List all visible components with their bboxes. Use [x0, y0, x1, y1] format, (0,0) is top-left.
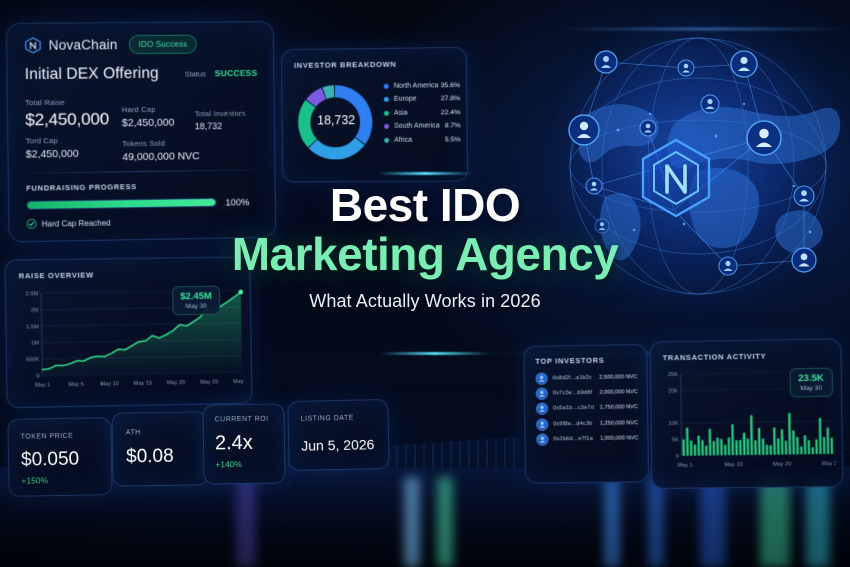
legend-dot-icon: [384, 124, 389, 129]
svg-text:May 25: May 25: [200, 379, 218, 385]
svg-text:May 20: May 20: [773, 461, 791, 467]
transaction-tooltip: 23.5K May 30: [789, 368, 833, 398]
investor-legend-row: North America35.6%: [384, 82, 460, 90]
investor-amount: 2,000,000 NVC: [599, 389, 637, 396]
svg-text:20K: 20K: [668, 388, 678, 394]
investor-address: 0x7c3e...b9d8f: [553, 390, 599, 397]
legend-value: 35.6%: [441, 82, 460, 89]
investor-legend-row: Asia22.4%: [384, 109, 460, 117]
svg-text:May 15: May 15: [134, 381, 152, 387]
status-label: Status: [185, 69, 206, 78]
donut-center-value: 18,732: [317, 113, 355, 127]
legend-dot-icon: [384, 111, 389, 116]
stat-value: $0.08: [126, 446, 174, 469]
metric-value: $2,450,000: [122, 117, 175, 130]
globe-graphic: [548, 18, 848, 318]
progress-section-label: FUNDRAISING PROGRESS: [26, 182, 137, 193]
floor-reflection: [806, 477, 830, 567]
svg-text:May 1: May 1: [677, 463, 692, 469]
transaction-activity-card: TRANSACTION ACTIVITY 05K10K20K25KMay 1Ma…: [650, 338, 844, 489]
metric-value: $2,450,000: [26, 148, 79, 161]
hero-accent-underline: [377, 172, 473, 175]
stat-label: LISTING DATE: [301, 415, 354, 423]
legend-dot-icon: [384, 97, 389, 102]
svg-text:0: 0: [676, 454, 679, 460]
raise-tooltip-value: $2.45M: [180, 291, 212, 302]
legend-value: 5.5%: [445, 136, 461, 143]
investor-amount: 1,250,000 NVC: [600, 420, 638, 427]
metric-label: Tokens Sold: [122, 138, 200, 148]
user-icon: [536, 433, 548, 445]
top-investor-row[interactable]: 0x9f8e...d4c3b1,250,000 NVC: [536, 417, 638, 430]
metric-total-investors: Total Investors 18,732: [195, 109, 246, 132]
metric-value: $2,450,000: [25, 109, 109, 130]
investor-legend-row: Europe27.8%: [384, 96, 460, 104]
investor-breakdown-title: INVESTOR BREAKDOWN: [294, 60, 396, 70]
legend-label: Africa: [394, 136, 445, 143]
ido-success-badge: IDO Success: [128, 35, 197, 55]
top-investor-row[interactable]: 0x7c3e...b9d8f2,000,000 NVC: [536, 386, 638, 400]
metric-label: Tord Cap: [25, 136, 78, 146]
status-badge: SUCCESS: [215, 68, 258, 78]
svg-text:10K: 10K: [668, 421, 678, 427]
floor-reflection: [404, 477, 420, 567]
floor-reflection: [437, 477, 453, 567]
stat-delta: +140%: [215, 459, 242, 469]
stat-label: CURRENT ROI: [215, 416, 269, 424]
hard-cap-reached-label: Hard Cap Reached: [42, 218, 111, 228]
metric-tord-cap: Tord Cap $2,450,000: [25, 136, 78, 161]
stat-card-current-roi: CURRENT ROI 2.4x +140%: [202, 403, 285, 484]
raise-overview-card: RAISE OVERVIEW 0500K1M1.5M2M2.5MMay 1May…: [4, 256, 252, 408]
svg-text:May 10: May 10: [724, 462, 742, 468]
stat-value: 2.4x: [215, 432, 253, 456]
metric-tokens-sold: Tokens Sold 49,000,000 NVC: [122, 138, 200, 163]
fundraising-progress-bar: [26, 198, 216, 210]
svg-text:May 5: May 5: [68, 382, 83, 388]
transaction-tooltip-date: May 30: [798, 385, 824, 392]
divider: [25, 169, 259, 173]
metric-label: Hard Cap: [122, 105, 175, 115]
user-icon: [536, 418, 548, 430]
progress-percent: 100%: [225, 197, 249, 208]
hard-cap-reached-row: Hard Cap Reached: [27, 218, 111, 229]
svg-text:May 20: May 20: [167, 380, 185, 386]
top-investor-row[interactable]: 0x5a1b...c3e7d1,750,000 NVC: [536, 402, 638, 415]
svg-text:5K: 5K: [672, 437, 679, 443]
top-investors-title: TOP INVESTORS: [535, 356, 604, 366]
hexagon-n-icon: [640, 138, 712, 218]
investor-legend-row: South America8.7%: [384, 122, 460, 130]
svg-text:2M: 2M: [31, 308, 39, 314]
svg-text:500K: 500K: [26, 357, 40, 363]
hexagon-n-icon: [24, 37, 41, 54]
floor-reflection: [236, 477, 256, 567]
svg-text:25K: 25K: [668, 372, 678, 378]
top-investors-list: 0x8d2f...a1b2c2,500,000 NVC0x7c3e...b9d8…: [536, 371, 639, 448]
stat-card-ath: ATH $0.08: [111, 411, 208, 486]
stat-value: $0.050: [21, 449, 80, 472]
legend-label: Europe: [394, 96, 441, 103]
top-investors-card: TOP INVESTORS 0x8d2f...a1b2c2,500,000 NV…: [523, 344, 649, 484]
metric-value: 18,732: [195, 121, 246, 132]
legend-label: Asia: [394, 109, 441, 116]
legend-label: North America: [394, 82, 441, 90]
floor-reflection: [700, 477, 726, 567]
card-title: Initial DEX Offering: [25, 65, 159, 84]
stat-value: Jun 5, 2026: [301, 436, 374, 454]
legend-dot-icon: [384, 84, 389, 89]
investor-amount: 2,500,000 NVC: [599, 374, 637, 381]
legend-value: 27.8%: [441, 96, 460, 103]
investor-address: 0x9f8e...d4c3b: [553, 420, 599, 427]
legend-value: 22.4%: [441, 109, 460, 116]
investor-legend: North America35.6%Europe27.8%Asia22.4%So…: [384, 82, 461, 150]
svg-text:May 1: May 1: [35, 382, 50, 388]
svg-text:May 30: May 30: [822, 461, 836, 467]
metric-total-raise: Total Raise $2,450,000: [25, 97, 109, 130]
brand-name: NovaChain: [49, 37, 118, 53]
investor-address: 0x2b6d...e7f1a: [553, 436, 599, 443]
stat-delta: +150%: [21, 475, 48, 485]
ido-summary-card: NovaChain IDO Success Initial DEX Offeri…: [6, 21, 276, 242]
floor-reflection: [760, 477, 790, 567]
progress-fill: [27, 199, 215, 209]
top-investor-row[interactable]: 0x8d2f...a1b2c2,500,000 NVC: [536, 371, 638, 385]
top-investor-row[interactable]: 0x2b6d...e7f1a1,000,000 NVC: [536, 432, 638, 445]
floor-reflection: [648, 477, 664, 567]
floor-reflection: [604, 477, 620, 567]
investor-amount: 1,750,000 NVC: [600, 405, 638, 412]
raise-overview-title: RAISE OVERVIEW: [19, 270, 94, 280]
stat-card-token-price: TOKEN PRICE $0.050 +150%: [7, 417, 112, 497]
legend-value: 8.7%: [445, 122, 461, 129]
decor-accent-bar: [380, 352, 490, 355]
status-block: Status SUCCESS: [185, 68, 258, 79]
raise-tooltip-date: May 30: [180, 303, 212, 310]
user-icon: [536, 373, 548, 385]
svg-text:2.5M: 2.5M: [26, 291, 39, 297]
metric-label: Total Raise: [25, 97, 109, 107]
metric-hard-cap: Hard Cap $2,450,000: [122, 105, 175, 130]
poster-canvas: NovaChain IDO Success Initial DEX Offeri…: [0, 0, 850, 567]
brand-row: NovaChain IDO Success: [24, 35, 197, 55]
user-icon: [536, 388, 548, 400]
user-icon: [536, 403, 548, 415]
investor-legend-row: Africa5.5%: [384, 136, 460, 144]
metric-value: 49,000,000 NVC: [122, 150, 200, 163]
investor-address: 0x8d2f...a1b2c: [553, 375, 599, 382]
svg-text:May 30: May 30: [233, 379, 244, 385]
transaction-tooltip-value: 23.5K: [798, 373, 824, 384]
stat-label: ATH: [126, 429, 141, 436]
svg-text:0: 0: [36, 374, 39, 380]
legend-dot-icon: [384, 137, 389, 142]
svg-text:1M: 1M: [31, 341, 39, 347]
stat-label: TOKEN PRICE: [21, 433, 74, 441]
investor-amount: 1,000,000 NVC: [600, 435, 638, 442]
check-icon: [27, 219, 37, 229]
legend-label: South America: [394, 123, 445, 130]
investor-address: 0x5a1b...c3e7d: [553, 405, 599, 412]
svg-text:May 10: May 10: [100, 381, 118, 387]
investor-breakdown-card: INVESTOR BREAKDOWN 18,732 North America3…: [281, 47, 468, 183]
svg-text:1.5M: 1.5M: [26, 324, 39, 330]
transaction-activity-title: TRANSACTION ACTIVITY: [663, 352, 767, 363]
stat-card-listing-date: LISTING DATE Jun 5, 2026: [287, 399, 389, 471]
raise-tooltip: $2.45M May 30: [172, 286, 220, 316]
metric-label: Total Investors: [195, 109, 246, 119]
